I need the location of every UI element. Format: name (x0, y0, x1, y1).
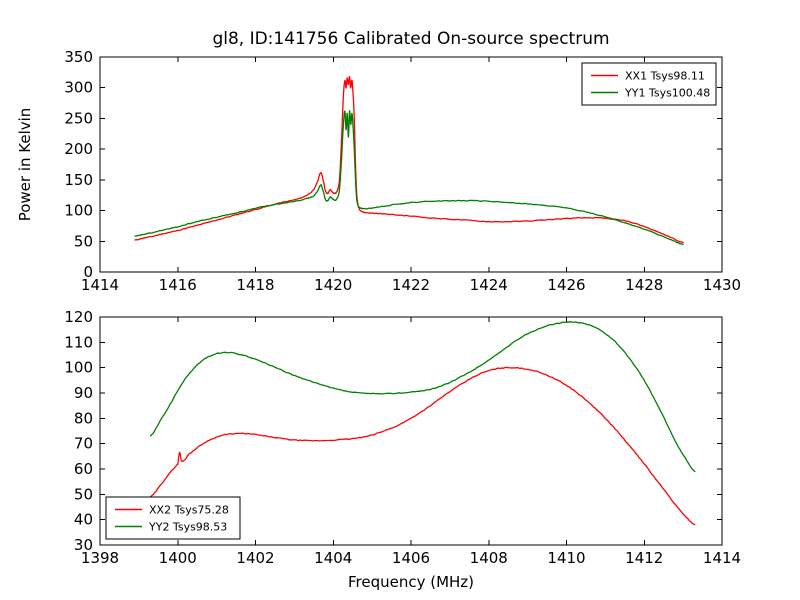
top-panel-ytick-label: 100 (64, 202, 93, 220)
top-panel-xtick-label: 1416 (159, 276, 197, 294)
top-panel-legend: XX1 Tsys98.11YY1 Tsys100.48 (582, 63, 716, 105)
bottom-panel-xtick-label: 1400 (159, 549, 197, 567)
top-panel-xtick-label: 1420 (314, 276, 352, 294)
top-panel-ytick-label: 350 (64, 48, 93, 66)
bottom-panel-ytick-label: 90 (74, 384, 93, 402)
bottom-panel-xlabel: Frequency (MHz) (348, 573, 474, 591)
bottom-panel-legend-label: XX2 Tsys75.28 (149, 504, 229, 517)
bottom-panel-ytick-label: 100 (64, 359, 93, 377)
bottom-panel-ytick-label: 30 (74, 536, 93, 554)
top-panel-ytick-label: 0 (83, 263, 93, 281)
top-panel-ytick-label: 250 (64, 109, 93, 127)
top-panel-xtick-label: 1422 (392, 276, 430, 294)
bottom-panel-ytick-label: 80 (74, 409, 93, 427)
bottom-panel-ytick-label: 70 (74, 435, 93, 453)
top-panel-ylabel: Power in Kelvin (16, 108, 34, 222)
bottom-panel-legend-label: YY2 Tsys98.53 (148, 521, 227, 534)
bottom-panel-xtick-label: 1406 (392, 549, 430, 567)
top-panel-legend-label: YY1 Tsys100.48 (624, 87, 710, 100)
bottom-panel-ytick-label: 50 (74, 485, 93, 503)
top-panel-xtick-label: 1428 (625, 276, 663, 294)
bottom-panel-ytick-label: 110 (64, 333, 93, 351)
top-panel-xtick-label: 1430 (703, 276, 741, 294)
bottom-panel-xtick-label: 1410 (547, 549, 585, 567)
figure-canvas: gl8, ID:141756 Calibrated On-source spec… (0, 0, 800, 600)
page-title: gl8, ID:141756 Calibrated On-source spec… (212, 29, 609, 49)
bottom-panel-xtick-label: 1404 (314, 549, 352, 567)
top-panel-legend-label: XX1 Tsys98.11 (625, 70, 705, 83)
spectrum-figure: gl8, ID:141756 Calibrated On-source spec… (0, 0, 800, 600)
top-panel-xtick-label: 1418 (236, 276, 274, 294)
bottom-panel-ytick-label: 40 (74, 511, 93, 529)
top-panel-xtick-label: 1424 (470, 276, 508, 294)
bottom-panel-legend: XX2 Tsys75.28YY2 Tsys98.53 (106, 497, 240, 539)
bottom-panel-xtick-label: 1414 (703, 549, 741, 567)
bottom-panel-ytick-label: 120 (64, 308, 93, 326)
top-panel-ytick-label: 200 (64, 140, 93, 158)
top-panel-xtick-label: 1426 (547, 276, 585, 294)
bottom-panel-xtick-label: 1408 (470, 549, 508, 567)
top-panel-ytick-label: 150 (64, 171, 93, 189)
bottom-panel-ytick-label: 60 (74, 460, 93, 478)
top-panel-ytick-label: 50 (74, 232, 93, 250)
bottom-panel-xtick-label: 1402 (236, 549, 274, 567)
top-panel-ytick-label: 300 (64, 79, 93, 97)
bottom-panel-xtick-label: 1412 (625, 549, 663, 567)
